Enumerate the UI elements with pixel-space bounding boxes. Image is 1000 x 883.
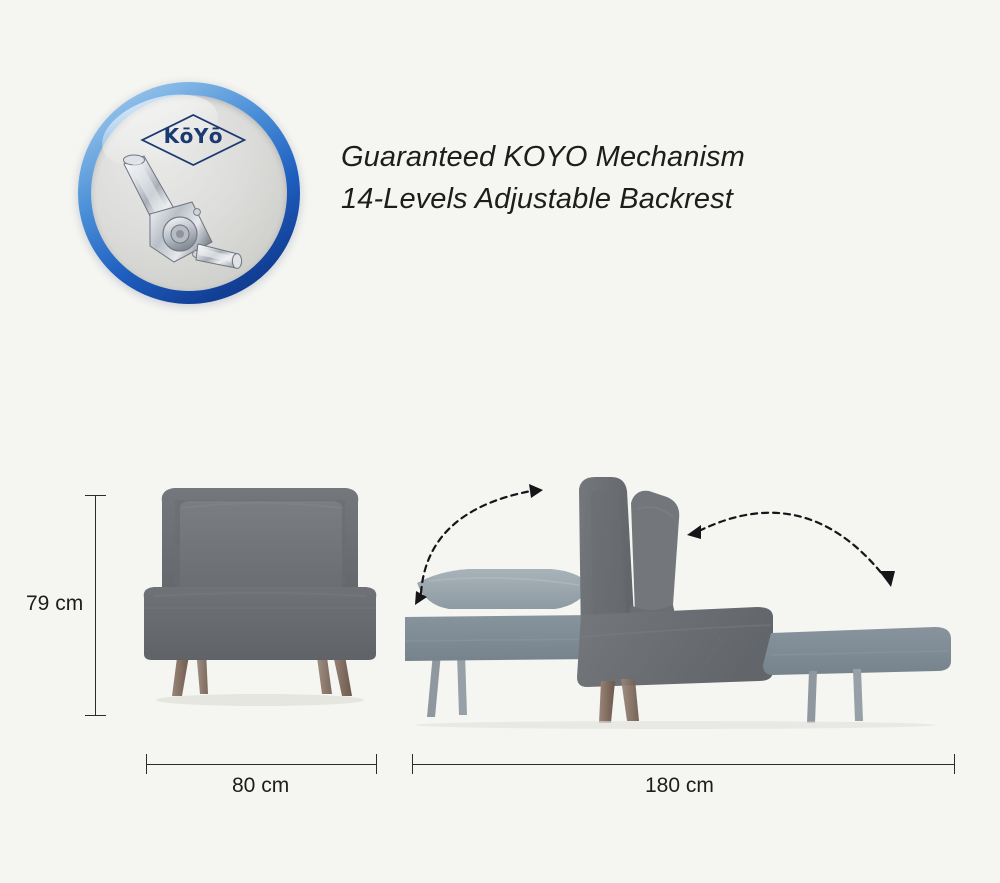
dimension-cap-left [146, 754, 147, 774]
dimension-label-bed-width: 180 cm [645, 774, 714, 798]
koyo-logo-text: KōYō [139, 124, 247, 148]
headline-line-2: 14-Levels Adjustable Backrest [341, 178, 901, 220]
sofa-bed-illustration [405, 465, 975, 730]
bed-ghost-base-left [405, 615, 609, 661]
dimension-cap-top [85, 495, 106, 496]
bed-ghost-legs-right [807, 669, 863, 723]
dimension-line-height [95, 495, 96, 716]
dimension-line-sofa-width [146, 764, 377, 765]
bed-ghost-legs-left [427, 653, 467, 717]
headline-block: Guaranteed KOYO Mechanism 14-Levels Adju… [341, 136, 901, 220]
chair-back-cushion [180, 501, 343, 590]
dimension-cap-left [412, 754, 413, 774]
dimension-line-bed-width [412, 764, 955, 765]
dimension-cap-right [376, 754, 377, 774]
bed-pillow [417, 569, 591, 609]
bed-leaning-cushion [631, 491, 679, 619]
hinge-mechanism-icon [100, 150, 250, 278]
dimension-label-sofa-width: 80 cm [232, 774, 289, 798]
chair-seat-base [144, 587, 377, 660]
headline-line-1: Guaranteed KOYO Mechanism [341, 136, 901, 178]
infographic-canvas: KōYō [0, 0, 1000, 883]
seat-extend-arrow [687, 513, 895, 587]
koyo-mechanism-badge: KōYō [78, 82, 300, 304]
dimension-label-height: 79 cm [26, 592, 83, 616]
dimension-cap-right [954, 754, 955, 774]
bed-solid-seat [577, 607, 773, 687]
sofa-bed-unfolded-side-view [405, 465, 975, 730]
dimension-cap-bottom [85, 715, 106, 716]
sofa-chair-front-view [120, 468, 400, 728]
sofa-chair-illustration [120, 468, 400, 728]
